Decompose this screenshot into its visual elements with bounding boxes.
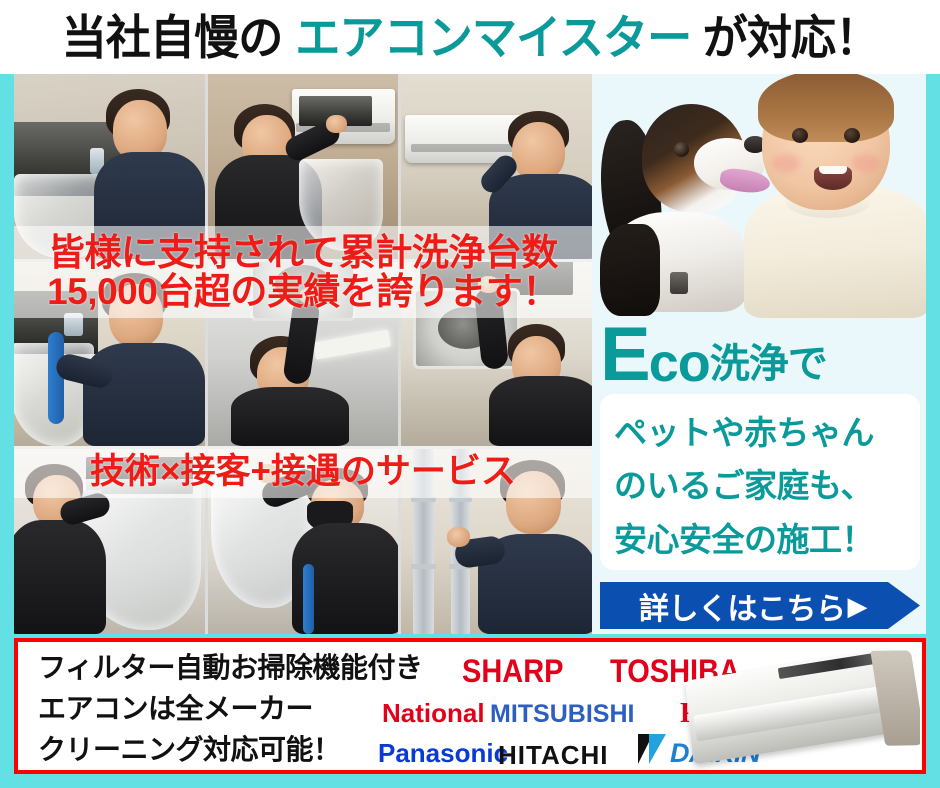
details-cta-button[interactable]: 詳しくはこちら ▶ bbox=[600, 582, 920, 629]
brand-logo-mitsubishi: MITSUBISHI bbox=[490, 702, 634, 727]
eco-letter-e: E bbox=[600, 320, 649, 390]
photo-cell bbox=[14, 449, 205, 634]
brand-logo-panasonic: Panasonic bbox=[378, 740, 508, 766]
eco-heading: E co 洗浄で bbox=[600, 316, 926, 390]
eco-panel: E co 洗浄で ペットや赤ちゃん のいるご家庭も、 安心安全の施工！ 詳しくは… bbox=[592, 74, 926, 634]
headline-prefix: 当社自慢の bbox=[61, 14, 282, 61]
photo-cell bbox=[208, 262, 399, 447]
photo-cell bbox=[208, 449, 399, 634]
photo-cell bbox=[401, 449, 592, 634]
body-area: 皆様に支持されて累計洗浄台数 15,000台超の実績を誇ります！ 技術×接客+接… bbox=[14, 74, 926, 634]
photo-cell bbox=[208, 74, 399, 259]
brand-logo-sharp: SHARP bbox=[462, 656, 564, 688]
cta-label-wrap: 詳しくはこちら ▶ bbox=[639, 584, 881, 628]
photo-cell bbox=[14, 74, 205, 259]
headline-accent: エアコンマイスター bbox=[295, 14, 691, 61]
pet-and-baby-photo bbox=[592, 74, 926, 318]
photo-cell bbox=[401, 74, 592, 259]
photo-cell bbox=[401, 262, 592, 447]
technician-photo-grid bbox=[14, 74, 592, 634]
air-conditioner-photo bbox=[682, 644, 920, 772]
safety-line-2: のいるご家庭も、 bbox=[614, 459, 920, 512]
headline-suffix: が対応！ bbox=[703, 14, 880, 61]
advertisement-banner: 当社自慢の エアコンマイスター が対応！ bbox=[0, 0, 940, 788]
cta-label: 詳しくはこちら bbox=[639, 584, 846, 628]
brand-logo-hitachi: HITACHI bbox=[498, 742, 609, 768]
daikin-mark-icon bbox=[638, 734, 668, 764]
eco-letters-co: co bbox=[649, 336, 710, 390]
play-arrow-icon: ▶ bbox=[848, 593, 868, 619]
safety-line-3: 安心安全の施工！ bbox=[614, 513, 920, 566]
brand-logo-national: National bbox=[382, 700, 485, 726]
page-title: 当社自慢の エアコンマイスター が対応！ bbox=[0, 0, 940, 74]
safety-message-card: ペットや赤ちゃん のいるご家庭も、 安心安全の施工！ bbox=[600, 394, 920, 570]
baby-illustration bbox=[740, 74, 926, 318]
photo-cell bbox=[14, 262, 205, 447]
brand-support-strip: フィルター自動お掃除機能付き エアコンは全メーカー クリーニング対応可能！ SH… bbox=[14, 638, 926, 774]
eco-suffix: 洗浄で bbox=[710, 342, 827, 390]
safety-line-1: ペットや赤ちゃん bbox=[614, 406, 920, 459]
